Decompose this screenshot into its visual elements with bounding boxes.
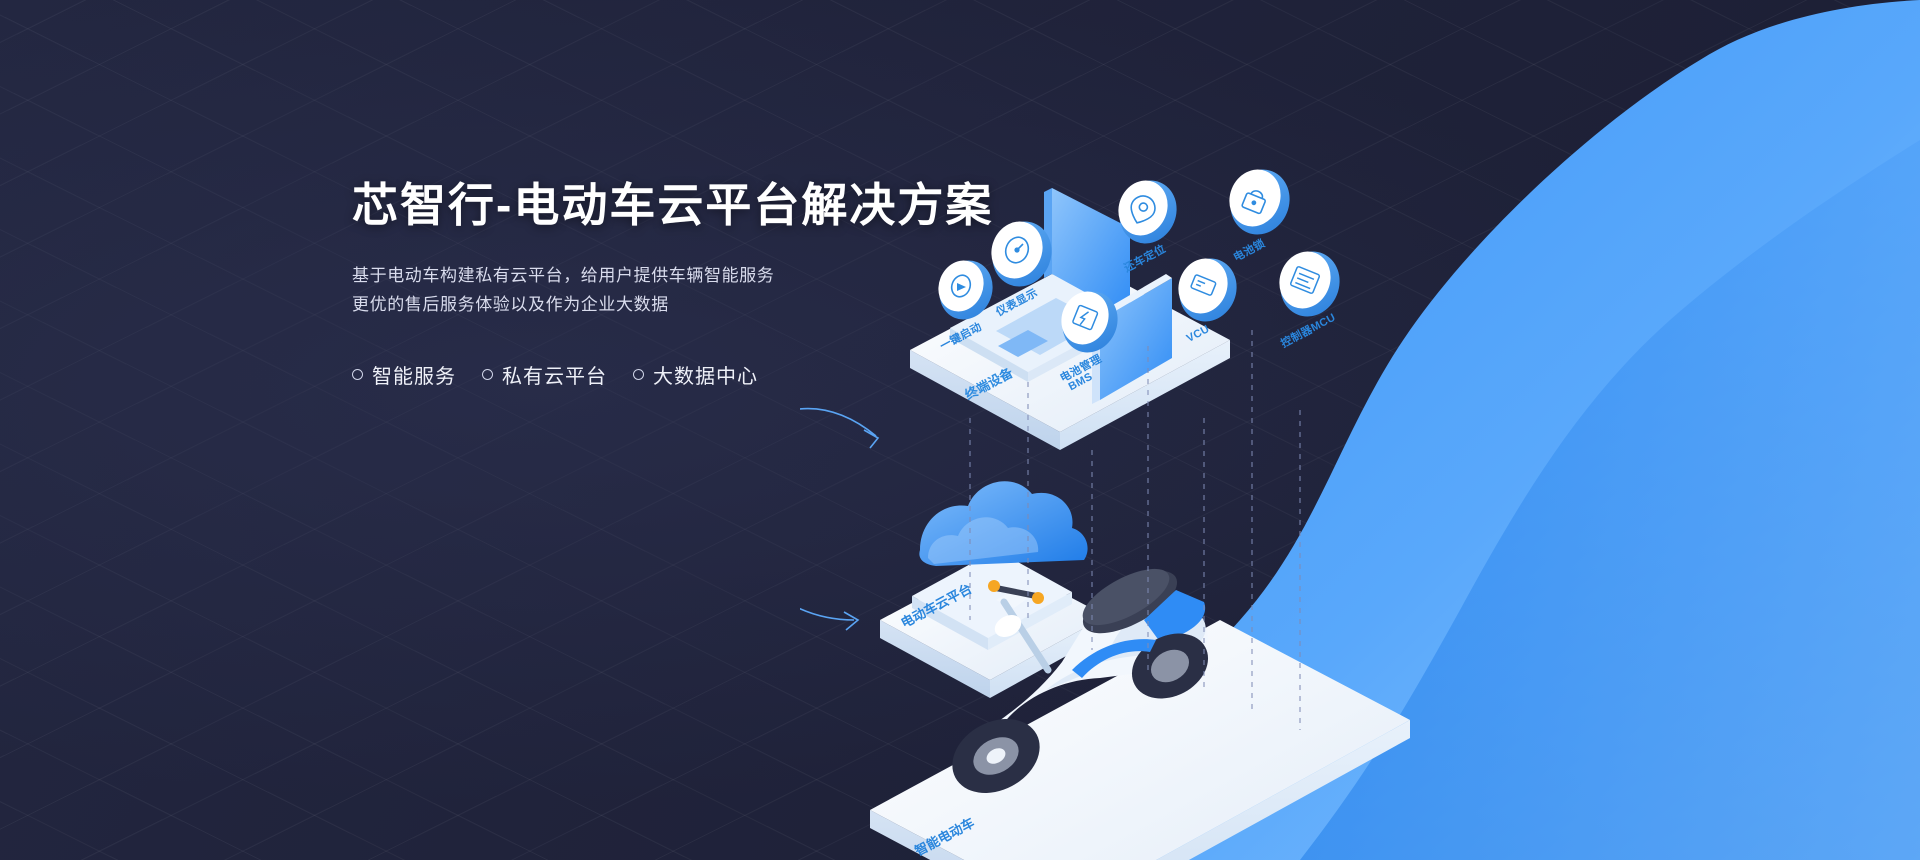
feature-item-smart-service[interactable]: 智能服务 <box>352 360 456 389</box>
circle-bullet-icon <box>633 369 644 380</box>
feature-label: 私有云平台 <box>502 360 607 389</box>
circle-bullet-icon <box>352 369 363 380</box>
isometric-illustration: 终端设备 电动车云平台 <box>800 150 1920 860</box>
feature-label: 大数据中心 <box>653 360 758 389</box>
module-pill-return-locate[interactable] <box>1110 172 1186 252</box>
module-pill-dashboard[interactable] <box>983 213 1062 296</box>
circle-bullet-icon <box>482 369 493 380</box>
module-pill-bms[interactable] <box>1053 283 1126 361</box>
module-pill-mcu[interactable] <box>1271 243 1350 326</box>
module-pill-vcu[interactable] <box>1170 250 1246 330</box>
banner-stage: 芯智行-电动车云平台解决方案 基于电动车构建私有云平台，给用户提供车辆智能服务 … <box>0 0 1920 860</box>
module-pill-battery-lock[interactable] <box>1221 161 1300 244</box>
module-pill-one-key-start[interactable] <box>931 252 1002 327</box>
feature-item-big-data[interactable]: 大数据中心 <box>633 360 758 389</box>
module-pills-layer <box>800 150 1920 860</box>
feature-label: 智能服务 <box>372 360 456 389</box>
feature-item-private-cloud[interactable]: 私有云平台 <box>482 360 607 389</box>
